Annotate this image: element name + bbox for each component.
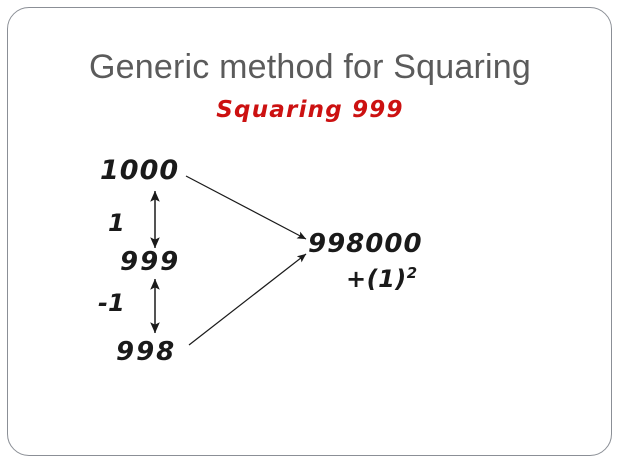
result-correction-term: +(1)2 [346, 264, 418, 293]
result-correction-exponent: 2 [407, 264, 418, 282]
result-product: 998000 [308, 229, 423, 259]
lower-to-product-arrow [189, 254, 306, 345]
value-lower-998: 998 [116, 337, 176, 367]
result-correction-base: +(1) [346, 265, 407, 293]
value-base-999: 999 [120, 247, 180, 277]
slide-canvas: Generic method for Squaring Squaring 999… [0, 0, 620, 465]
delta-label-negative-one: -1 [98, 289, 125, 317]
upper-to-product-arrow [186, 176, 306, 239]
delta-label-positive-one: 1 [108, 209, 125, 237]
value-upper-1000: 1000 [100, 155, 179, 186]
